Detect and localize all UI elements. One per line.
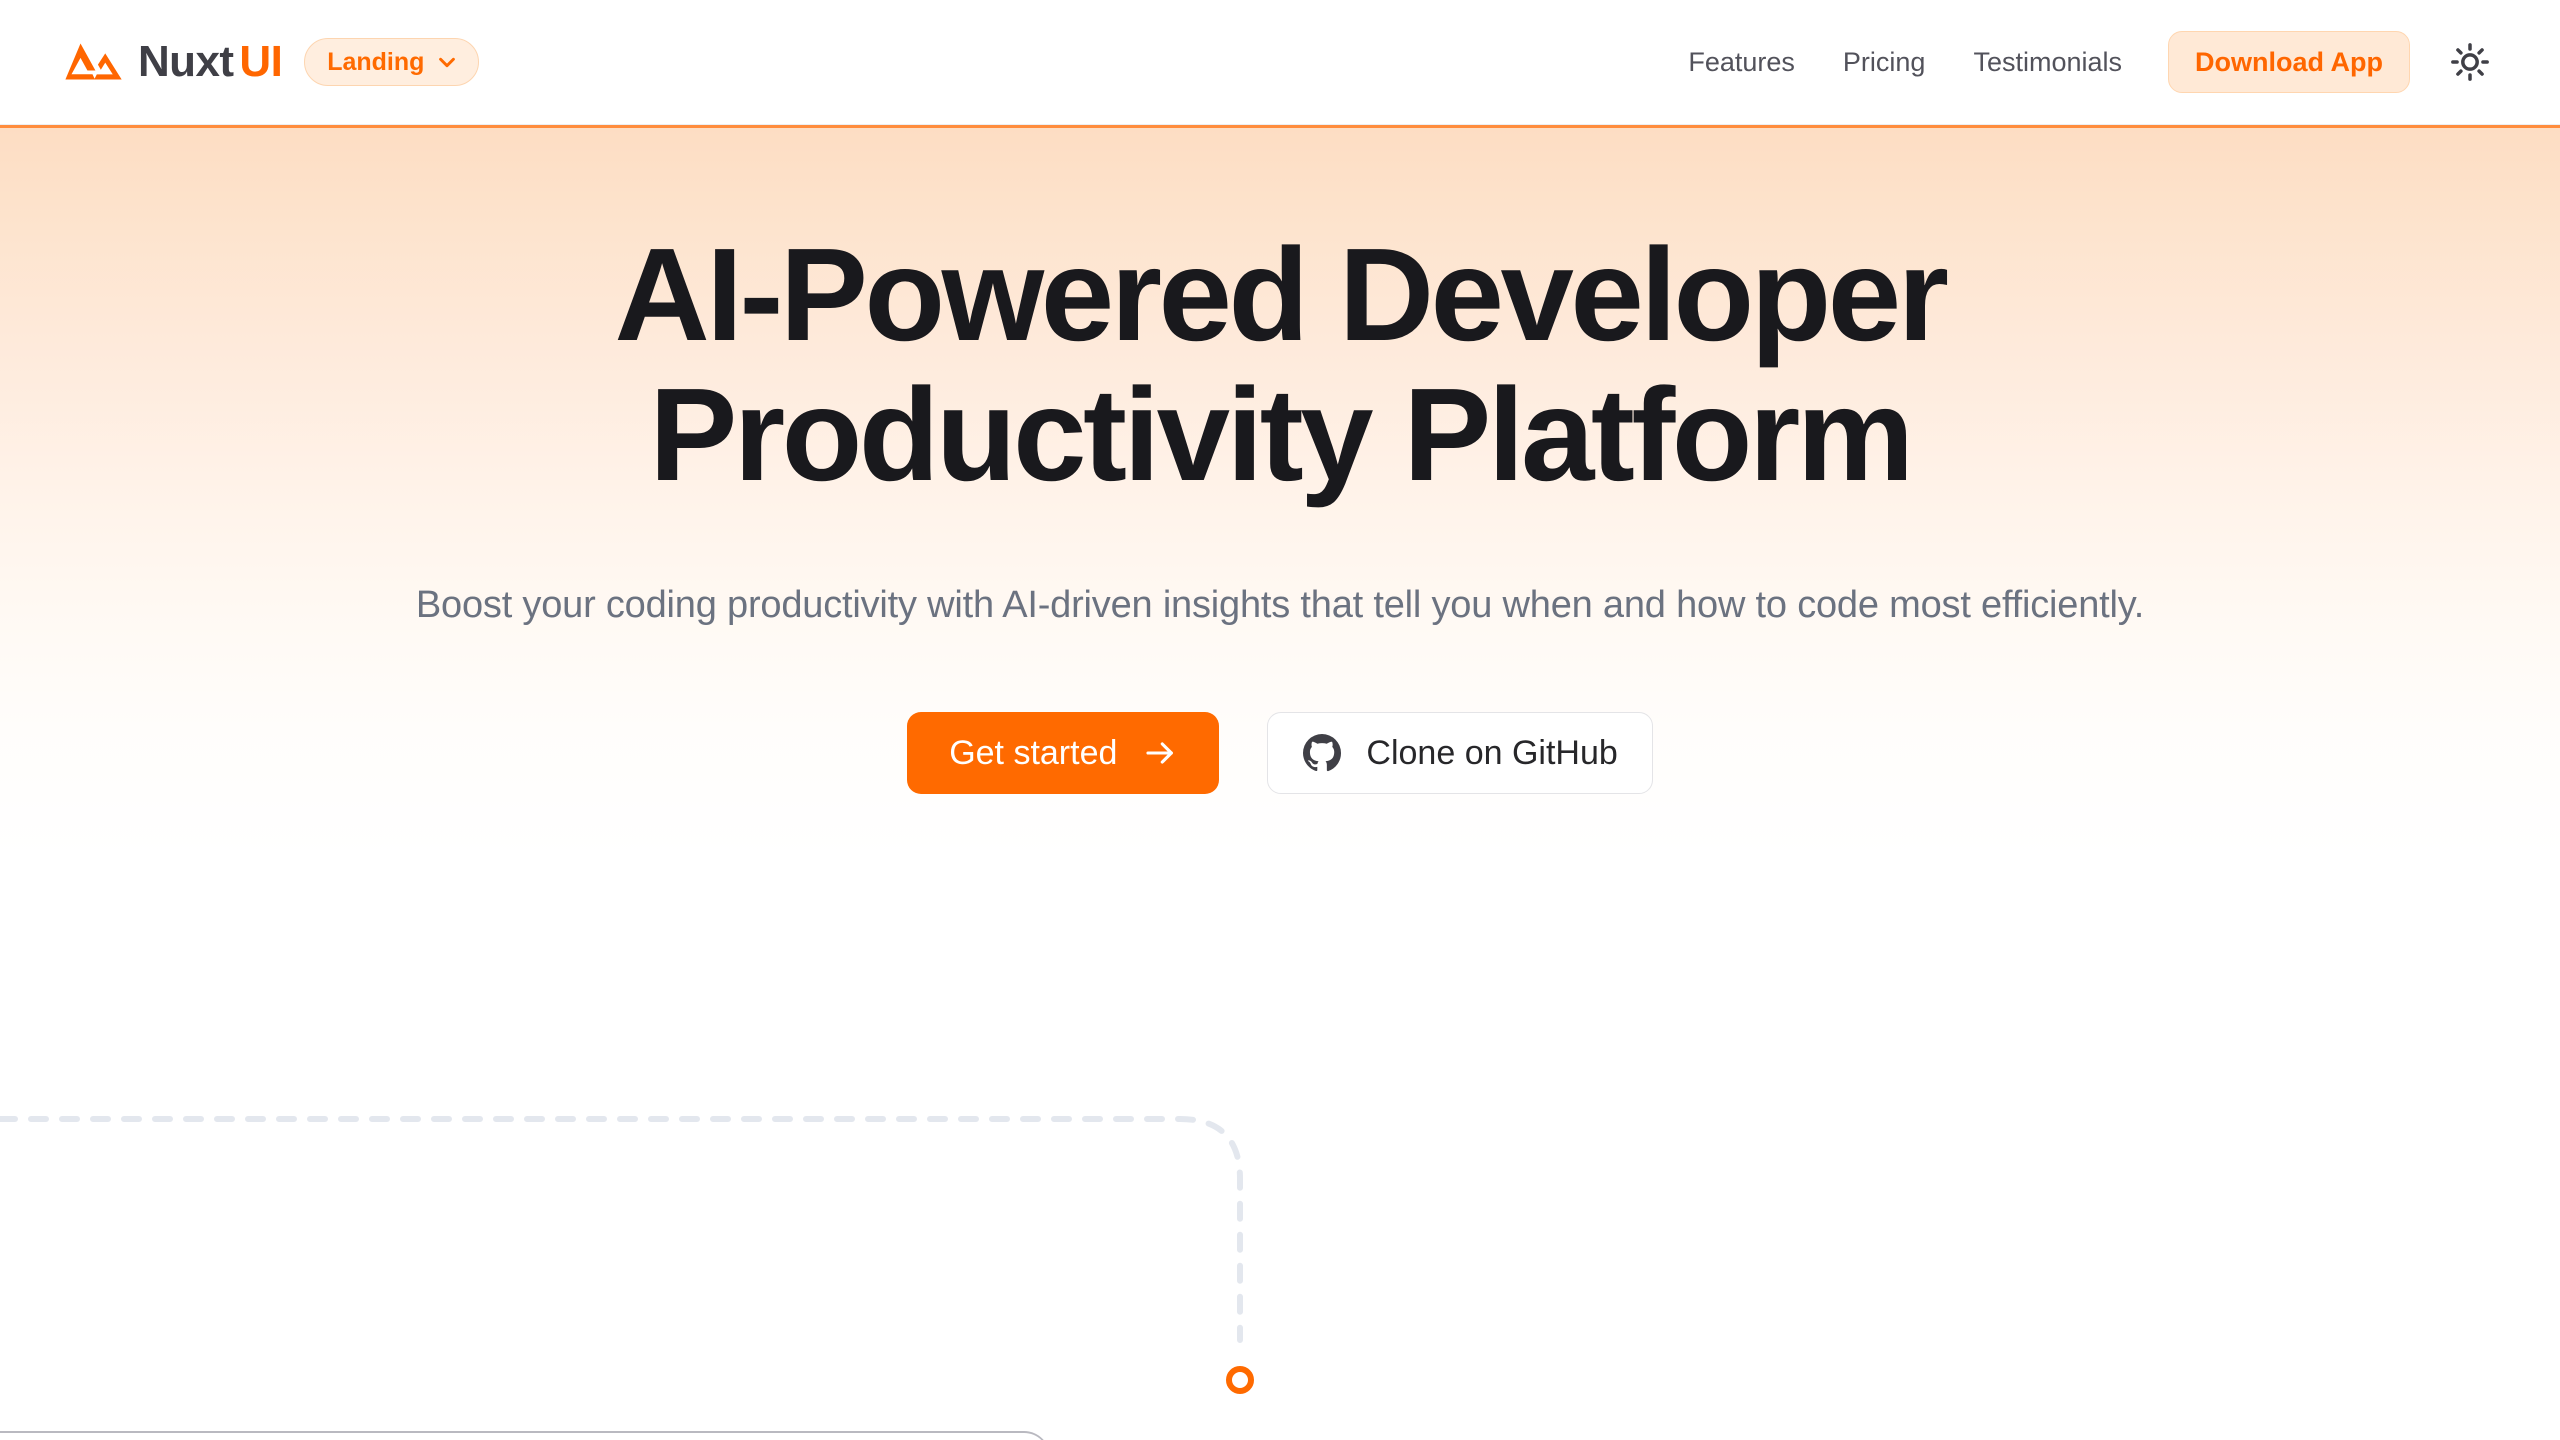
get-started-label: Get started bbox=[949, 736, 1117, 770]
hero-subheadline: Boost your coding productivity with AI-d… bbox=[230, 577, 2330, 634]
logo-home-link[interactable]: NuxtUI bbox=[64, 39, 282, 85]
nav-link-testimonials[interactable]: Testimonials bbox=[1949, 39, 2146, 86]
arrow-right-icon bbox=[1143, 736, 1177, 770]
theme-toggle-button[interactable] bbox=[2444, 36, 2496, 88]
brand-group: NuxtUI Landing bbox=[64, 38, 479, 86]
landing-variant-selector[interactable]: Landing bbox=[304, 38, 479, 86]
hero-cta-row: Get started Clone on GitHub bbox=[0, 712, 2560, 794]
nav-link-features[interactable]: Features bbox=[1664, 39, 1819, 86]
clone-on-github-label: Clone on GitHub bbox=[1366, 736, 1617, 770]
main-navigation: Features Pricing Testimonials Download A… bbox=[1664, 31, 2496, 93]
feature-card-top-edge bbox=[0, 1432, 1050, 1440]
hero-section: AI-Powered Developer Productivity Platfo… bbox=[0, 125, 2560, 1440]
nav-link-pricing[interactable]: Pricing bbox=[1819, 39, 1950, 86]
clone-on-github-button[interactable]: Clone on GitHub bbox=[1267, 712, 1652, 794]
logo-word-nuxt: Nuxt bbox=[138, 37, 233, 86]
hero-headline: AI-Powered Developer Productivity Platfo… bbox=[440, 225, 2120, 505]
get-started-button[interactable]: Get started bbox=[907, 712, 1219, 794]
logo-wordmark: NuxtUI bbox=[138, 40, 282, 84]
chevron-down-icon bbox=[436, 51, 458, 73]
dashed-connector-line bbox=[0, 980, 2560, 1440]
orange-ring-dot bbox=[1229, 1369, 1251, 1391]
hero-content: AI-Powered Developer Productivity Platfo… bbox=[0, 125, 2560, 794]
logo-word-ui: UI bbox=[239, 37, 282, 86]
landing-page: NuxtUI Landing Features Pricing Testimon… bbox=[0, 0, 2560, 1440]
download-app-button[interactable]: Download App bbox=[2168, 31, 2410, 93]
nuxt-mountain-icon bbox=[64, 39, 124, 85]
sun-icon bbox=[2449, 41, 2491, 83]
landing-variant-label: Landing bbox=[327, 50, 424, 75]
site-header: NuxtUI Landing Features Pricing Testimon… bbox=[0, 0, 2560, 125]
github-icon bbox=[1302, 733, 1342, 773]
